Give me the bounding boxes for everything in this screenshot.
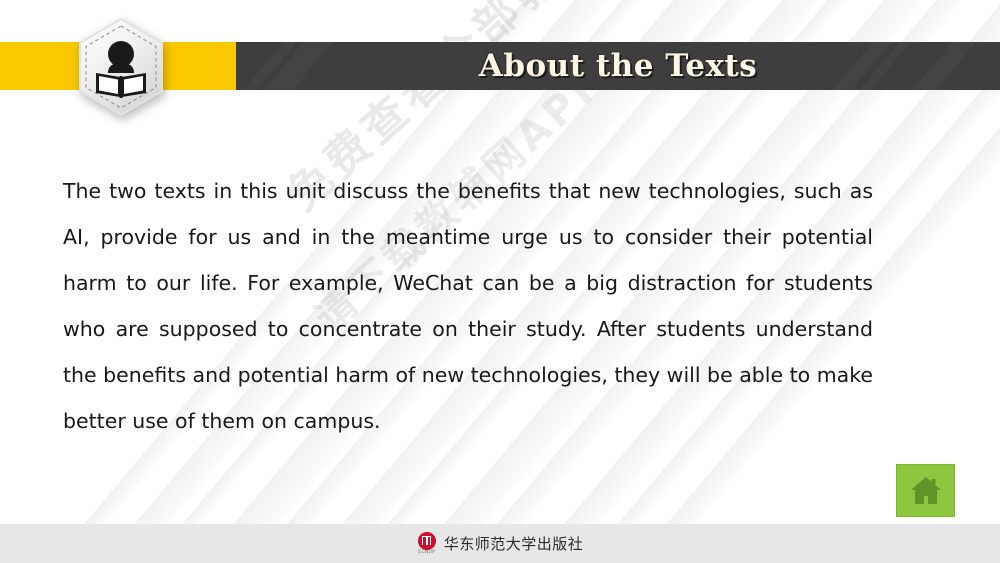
publisher-footer: ECNUP 华东师范大学出版社: [0, 524, 1000, 563]
publisher-name: 华东师范大学出版社: [444, 533, 584, 554]
home-button[interactable]: [896, 464, 955, 517]
slide-canvas: 免费查看全部教学资源 请下载教辅网APP About the Texts: [0, 0, 1000, 563]
logo-abbr: ECNUP: [418, 550, 435, 556]
logo-circle: [418, 532, 436, 550]
house-icon: [909, 475, 943, 507]
page-title: About the Texts: [236, 42, 1000, 90]
slide-header: About the Texts: [0, 0, 1000, 120]
main-paragraph-block: The two texts in this unit discuss the b…: [63, 168, 873, 444]
publisher-logo-icon: ECNUP: [417, 531, 437, 557]
person-reading-book-icon: [76, 17, 166, 117]
main-paragraph: The two texts in this unit discuss the b…: [63, 168, 873, 444]
